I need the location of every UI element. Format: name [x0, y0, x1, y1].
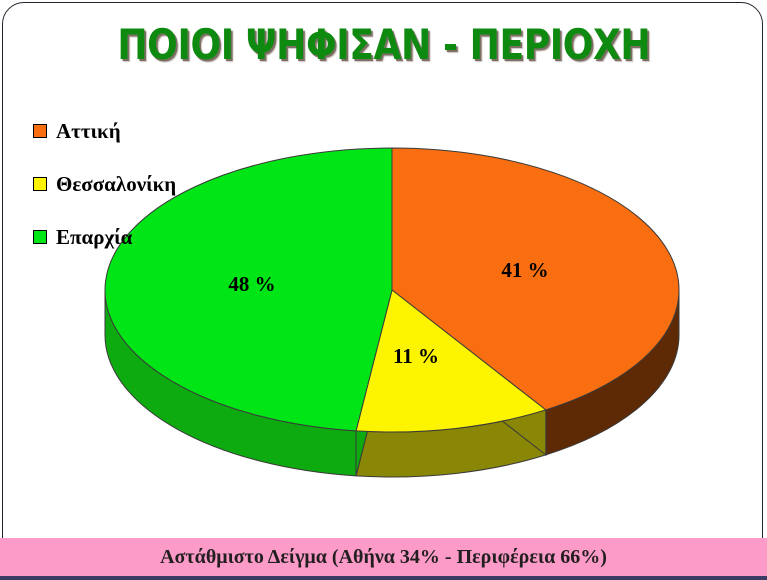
chart-legend: ΑττικήΘεσσαλονίκηΕπαρχία	[33, 118, 248, 277]
legend-item-label: Επαρχία	[56, 227, 132, 248]
legend-item-label: Θεσσαλονίκη	[56, 174, 176, 195]
slide-canvas: ΠΟΙΟΙ ΨΗΦΙΣΑΝ - ΠΕΡΙΟΧΗ 41 %11 %48 % Αττ…	[0, 0, 767, 580]
legend-swatch-icon	[33, 230, 47, 244]
pie-slice-label: 11 %	[393, 344, 439, 368]
footer-bar: Αστάθμιστο Δείγμα (Αθήνα 34% - Περιφέρει…	[0, 538, 767, 576]
footer-accent-strip	[0, 576, 767, 580]
legend-item[interactable]: Αττική	[33, 118, 248, 144]
pie-slice-label: 41 %	[501, 258, 548, 282]
legend-item[interactable]: Θεσσαλονίκη	[33, 171, 248, 197]
legend-swatch-icon	[33, 124, 47, 138]
pie-chart-svg: 41 %11 %48 %	[0, 0, 767, 580]
footer-note: Αστάθμιστο Δείγμα (Αθήνα 34% - Περιφέρει…	[160, 546, 607, 569]
legend-swatch-icon	[33, 177, 47, 191]
legend-item-label: Αττική	[56, 121, 121, 142]
legend-item[interactable]: Επαρχία	[33, 224, 248, 250]
pie-chart: 41 %11 %48 %	[0, 0, 767, 580]
